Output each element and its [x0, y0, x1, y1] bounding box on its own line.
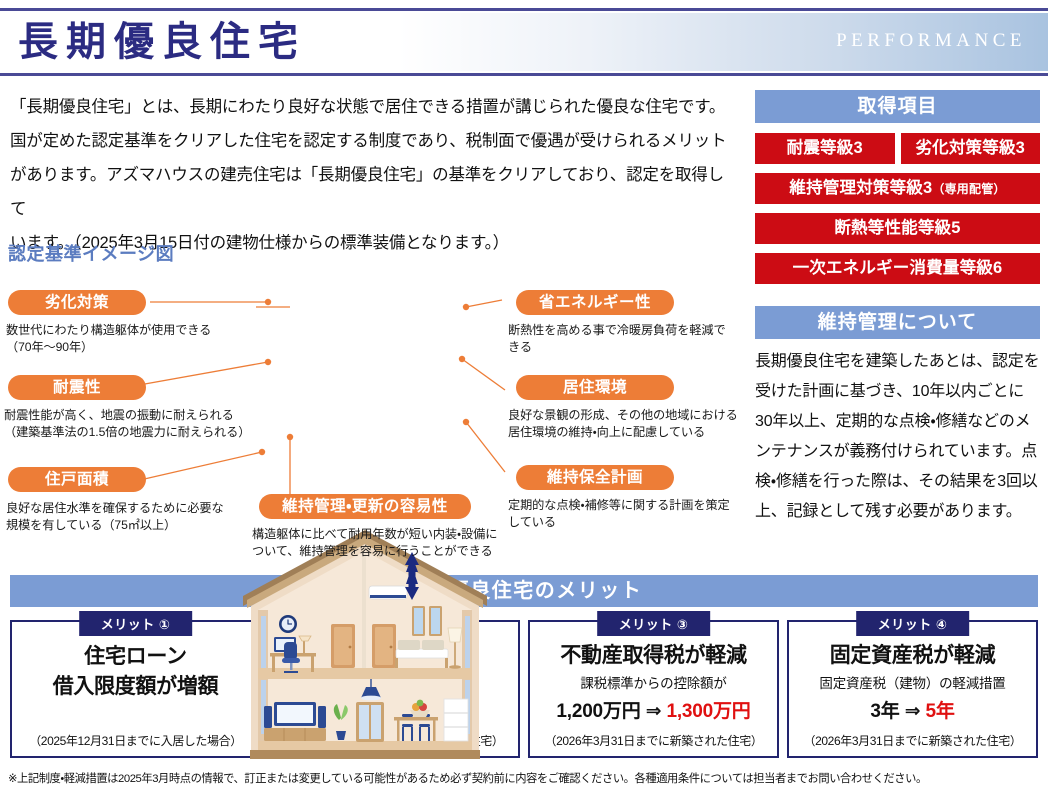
merit-card-3-note: （2026年3月31日までに新築された住宅）	[530, 732, 777, 749]
merit-card-3-title: 不動産取得税が軽減	[560, 642, 746, 670]
criteria-desc-6-line1: 定期的な点検・補修等に関する計画を策定	[508, 497, 750, 514]
badge-maintenance-grade-note: （専用配管）	[932, 182, 1005, 196]
badge-seismic-grade: 耐震等級3	[755, 133, 895, 164]
dining-chair-icon	[402, 714, 413, 717]
merit-card-1-title-line1: 住宅ローン	[53, 642, 219, 672]
merit-card-3-figure-before: 1,200万円	[556, 701, 640, 722]
badge-maintenance-grade: 維持管理対策等級3（専用配管）	[755, 173, 1040, 204]
criteria-desc-2-line2: 規模を有している（75㎡以上）	[6, 517, 246, 534]
criteria-desc-5: 良好な景観の形成、その他の地域における 居住環境の維持・向上に配慮している	[508, 407, 750, 441]
page-root: 長期優良住宅 PERFORMANCE 「長期優良住宅」とは、長期にわたり良好な状…	[0, 0, 1048, 800]
header-rule-top	[0, 8, 1048, 11]
sidebar-maintenance-body: 長期優良住宅を建築したあとは、認定を受けた計画に基づき、10年以内ごとに30年以…	[755, 347, 1040, 527]
merit-card-4: メリット ④ 固定資産税が軽減 固定資産税（建物）の軽減措置 3年 ⇒ 5年 （…	[787, 620, 1038, 758]
criteria-pill-3-label: 維持管理・更新の容易性	[282, 498, 448, 515]
criteria-pill-0-label: 劣化対策	[45, 294, 109, 311]
criteria-desc-5-line1: 良好な景観の形成、その他の地域における	[508, 407, 750, 424]
merit-card-1-title-line2: 借入限度額が増額	[53, 672, 219, 702]
criteria-desc-6-line2: している	[508, 514, 750, 531]
merit-card-4-tag: メリット ④	[856, 611, 970, 636]
header-eyebrow-label: PERFORMANCE	[836, 30, 1026, 52]
merit-card-3-tag: メリット ③	[597, 611, 711, 636]
criteria-desc-3-line1: 構造躯体に比べて耐用年数が短い内装・設備に	[252, 526, 514, 543]
criteria-desc-1-line2: （建築基準法の1.5倍の地震力に耐えられる）	[4, 424, 254, 441]
criteria-pill-2-label: 住戸面積	[45, 471, 109, 488]
intro-line-1: 「長期優良住宅」とは、長期にわたり良好な状態で居住できる措置が講じられた優良な住…	[10, 90, 728, 124]
dining-table-icon	[394, 717, 438, 721]
floor-lamp-icon	[448, 628, 462, 642]
merit-card-4-title: 固定資産税が軽減	[830, 642, 996, 670]
page-title: 長期優良住宅	[18, 18, 306, 66]
criteria-diagram: 劣化対策 数世代にわたり構造躯体が使用できる （70年～90年） 耐震性 耐震性…	[0, 262, 740, 562]
criteria-desc-4-line1: 断熱性を高める事で冷暖房負荷を軽減で	[508, 322, 750, 339]
criteria-desc-2-line1: 良好な居住水準を確保するために必要な	[6, 500, 246, 517]
intro-line-2: 国が定めた認定基準をクリアした住宅を認定する制度であり、税制面で優遇が受けられる…	[10, 124, 728, 158]
badge-row-1: 耐震等級3 劣化対策等級3	[755, 133, 1040, 164]
speaker-icon	[318, 706, 326, 728]
office-chair-icon	[284, 642, 297, 660]
criteria-pill-3: 維持管理・更新の容易性	[259, 494, 471, 519]
merit-card-3-figure-arrow: ⇒	[646, 701, 662, 722]
bed-icon	[396, 649, 448, 658]
merit-card-3: メリット ③ 不動産取得税が軽減 課税標準からの控除額が 1,200万円 ⇒ 1…	[528, 620, 779, 758]
criteria-desc-5-line2: 居住環境の維持・向上に配慮している	[508, 424, 750, 441]
criteria-desc-0-line1: 数世代にわたり構造躯体が使用できる	[6, 322, 246, 339]
merit-card-1-tag: メリット ①	[79, 611, 193, 636]
criteria-desc-0-line2: （70年～90年）	[6, 339, 246, 356]
criteria-desc-4-line2: きる	[508, 339, 750, 356]
kitchen-cabinet-icon	[444, 699, 468, 741]
badge-insulation-grade: 断熱等性能等級5	[755, 213, 1040, 244]
sidebar-maintenance-heading: 維持管理について	[755, 306, 1040, 339]
page-header: 長期優良住宅 PERFORMANCE	[0, 0, 1048, 78]
speaker-icon	[264, 706, 272, 728]
criteria-desc-3-line2: ついて、維持管理を容易に行うことができる	[252, 543, 514, 560]
intro-line-3: があります。アズマハウスの建売住宅は「長期優良住宅」の基準をクリアしており、認定…	[10, 158, 728, 226]
sidebar: 取得項目 耐震等級3 劣化対策等級3 維持管理対策等級3（専用配管） 断熱等性能…	[755, 90, 1040, 527]
criteria-pill-1: 耐震性	[8, 375, 146, 400]
merit-card-3-figure-after: 1,300万円	[666, 701, 750, 722]
sidebar-acquired-heading: 取得項目	[755, 90, 1040, 123]
merit-card-1-title: 住宅ローン 借入限度額が増額	[53, 642, 219, 702]
criteria-desc-2: 良好な居住水準を確保するために必要な 規模を有している（75㎡以上）	[6, 500, 246, 534]
criteria-pill-2: 住戸面積	[8, 467, 146, 492]
merit-banner: 長期優良住宅のメリット	[10, 575, 1038, 607]
merit-card-4-sub: 固定資産税（建物）の軽減措置	[819, 674, 1005, 693]
merit-card-4-figure-before: 3年	[870, 701, 899, 722]
criteria-pill-4: 省エネルギー性	[516, 290, 674, 315]
merit-card-4-figure: 3年 ⇒ 5年	[870, 696, 954, 723]
merit-card-4-figure-after: 5年	[925, 701, 954, 722]
badge-maintenance-grade-label: 維持管理対策等級3	[789, 179, 932, 197]
merit-card-4-note: （2026年3月31日までに新築された住宅）	[789, 732, 1036, 749]
footnote: ※上記制度・軽減措置は2025年3月時点の情報で、訂正または変更している可能性が…	[8, 772, 1044, 787]
badge-degradation-grade: 劣化対策等級3	[901, 133, 1041, 164]
merit-card-1-note: （2025年12月31日までに入居した場合）	[12, 732, 259, 749]
criteria-pill-6-label: 維持保全計画	[547, 469, 643, 486]
merit-card-row: メリット ① 住宅ローン 借入限度額が増額 （2025年12月31日までに入居し…	[10, 620, 1038, 758]
criteria-desc-1: 耐震性能が高く、地震の振動に耐えられる （建築基準法の1.5倍の地震力に耐えられ…	[4, 407, 254, 441]
criteria-desc-3: 構造躯体に比べて耐用年数が短い内装・設備に ついて、維持管理を容易に行うことがで…	[252, 526, 514, 560]
merit-card-1: メリット ① 住宅ローン 借入限度額が増額 （2025年12月31日までに入居し…	[10, 620, 261, 758]
merit-card-3-figure: 1,200万円 ⇒ 1,300万円	[556, 696, 750, 723]
criteria-pill-6: 維持保全計画	[516, 465, 674, 490]
criteria-pill-5: 居住環境	[516, 375, 674, 400]
intro-paragraph: 「長期優良住宅」とは、長期にわたり良好な状態で居住できる措置が講じられた優良な住…	[10, 90, 728, 260]
criteria-pill-5-label: 居住環境	[563, 379, 627, 396]
criteria-desc-6: 定期的な点検・補修等に関する計画を策定 している	[508, 497, 750, 531]
criteria-pill-1-label: 耐震性	[53, 379, 101, 396]
criteria-pill-0: 劣化対策	[8, 290, 146, 315]
criteria-desc-0: 数世代にわたり構造躯体が使用できる （70年～90年）	[6, 322, 246, 356]
badge-primary-energy-grade: 一次エネルギー消費量等級6	[755, 253, 1040, 284]
tv-cabinet-icon	[264, 728, 326, 741]
header-rule-bottom	[0, 73, 1048, 76]
merit-card-4-figure-arrow: ⇒	[905, 701, 921, 722]
criteria-pill-4-label: 省エネルギー性	[539, 294, 651, 311]
sidebar-badge-stack: 耐震等級3 劣化対策等級3 維持管理対策等級3（専用配管） 断熱等性能等級5 一…	[755, 133, 1040, 284]
criteria-desc-4: 断熱性を高める事で冷暖房負荷を軽減で きる	[508, 322, 750, 356]
criteria-desc-1-line1: 耐震性能が高く、地震の振動に耐えられる	[4, 407, 254, 424]
merit-card-3-sub: 課税標準からの控除額が	[580, 674, 726, 693]
house-cross-section-illustration	[236, 524, 494, 772]
